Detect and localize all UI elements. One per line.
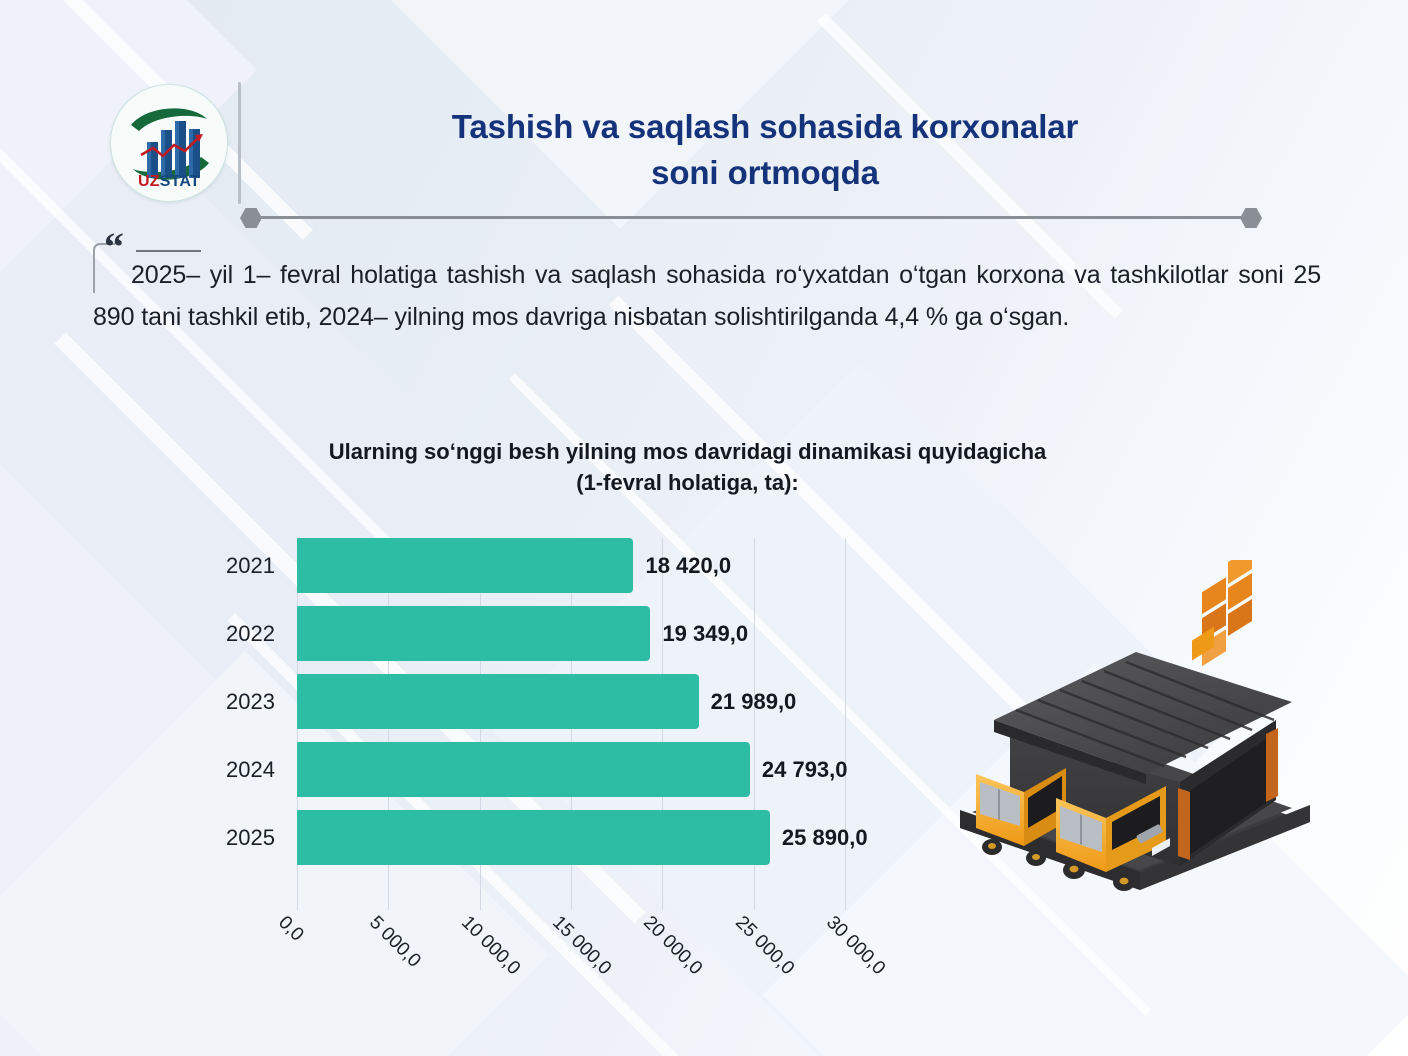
bar <box>297 606 650 661</box>
chart-title: Ularning so‘nggi besh yilning mos davrid… <box>135 436 1240 498</box>
bar-category-label: 2023 <box>226 689 275 715</box>
logo-text-uz: UZ <box>138 173 160 190</box>
bar-value-label: 21 989,0 <box>711 689 797 715</box>
lead-paragraph: 2025– yil 1– fevral holatiga tashish va … <box>93 255 1321 338</box>
bar-row: 202525 890,0 <box>297 810 845 865</box>
x-axis-tick-label: 30 000,0 <box>821 912 889 980</box>
bar-category-label: 2025 <box>226 825 275 851</box>
page-title-line-2: soni ortmoqda <box>300 150 1230 196</box>
hexagon-marker-right-icon <box>1240 208 1262 228</box>
bar <box>297 538 633 593</box>
bar <box>297 742 750 797</box>
bar <box>297 674 699 729</box>
bar-category-label: 2022 <box>226 621 275 647</box>
bar-value-label: 25 890,0 <box>782 825 868 851</box>
header-divider <box>238 82 241 204</box>
bar-value-label: 19 349,0 <box>662 621 748 647</box>
bar-value-label: 24 793,0 <box>762 757 848 783</box>
chart-title-line-2: (1-fevral holatiga, ta): <box>135 467 1240 498</box>
header-rule <box>240 206 1265 230</box>
bar-row: 202321 989,0 <box>297 674 845 729</box>
logo-text-stat: STAT <box>160 173 200 190</box>
bar-category-label: 2024 <box>226 757 275 783</box>
bar-row: 202219 349,0 <box>297 606 845 661</box>
bar-chart: 202118 420,0202219 349,0202321 989,02024… <box>297 538 845 910</box>
x-axis-tick-label: 20 000,0 <box>639 912 707 980</box>
x-axis-tick-label: 10 000,0 <box>456 912 524 980</box>
gridline <box>845 538 846 910</box>
x-axis-tick-label: 15 000,0 <box>547 912 615 980</box>
x-axis-tick-label: 5 000,0 <box>365 912 425 972</box>
warehouse-illustration <box>940 560 1330 900</box>
uzstat-logo: UZSTAT <box>110 84 228 202</box>
bar-category-label: 2021 <box>226 553 275 579</box>
warehouse-3d-icon <box>940 560 1330 900</box>
rule-line <box>258 216 1243 219</box>
quote-dash <box>136 250 201 252</box>
page-title-line-1: Tashish va saqlash sohasida korxonalar <box>300 104 1230 150</box>
bar <box>297 810 770 865</box>
x-axis-tick-label: 0,0 <box>273 912 307 946</box>
bar-value-label: 18 420,0 <box>645 553 731 579</box>
x-axis-tick-label: 25 000,0 <box>730 912 798 980</box>
bar-row: 202424 793,0 <box>297 742 845 797</box>
bar-row: 202118 420,0 <box>297 538 845 593</box>
logo-wordmark: UZSTAT <box>110 173 228 191</box>
chart-title-line-1: Ularning so‘nggi besh yilning mos davrid… <box>135 436 1240 467</box>
header: UZSTAT Tashish va saqlash sohasida korxo… <box>0 0 1408 215</box>
infographic-canvas: UZSTAT Tashish va saqlash sohasida korxo… <box>0 0 1408 1056</box>
x-axis-ticks: 0,05 000,010 000,015 000,020 000,025 000… <box>297 912 857 1032</box>
page-title: Tashish va saqlash sohasida korxonalar s… <box>300 104 1230 195</box>
